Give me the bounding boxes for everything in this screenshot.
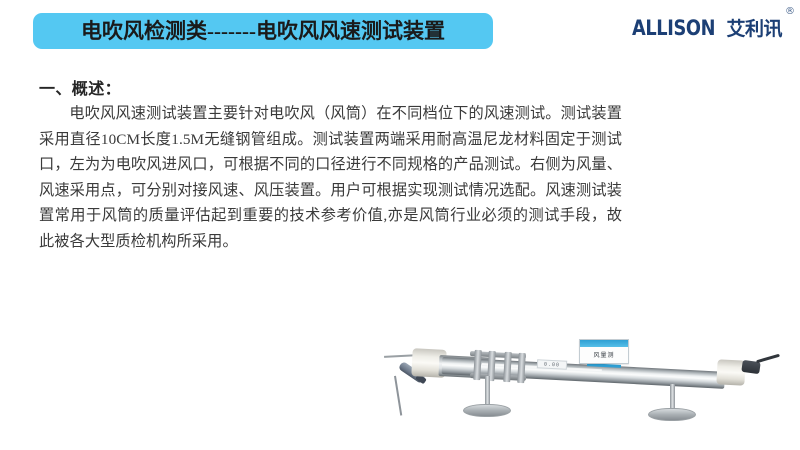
photo-stage: 0.00 风量测 xyxy=(382,326,782,448)
probe-needle xyxy=(394,376,402,416)
logo-latin-text: ALLISON xyxy=(632,16,715,40)
meter-card-label: 风量测 xyxy=(580,347,628,364)
product-photo: 0.00 风量测 xyxy=(382,326,782,448)
logo-chinese-text: 艾利讯 xyxy=(726,14,782,41)
slide: 电吹风检测类-------电吹风风速测试装置 ALLISON 艾利讯 ® 一、概… xyxy=(0,0,800,450)
stand-base xyxy=(463,404,511,417)
section-heading-overview: 一、概述： xyxy=(39,75,121,99)
page-title: 电吹风检测类-------电吹风风速测试装置 xyxy=(81,21,445,42)
slide-header: 电吹风检测类-------电吹风风速测试装置 ALLISON 艾利讯 ® xyxy=(0,0,800,62)
logo-inner: ALLISON 艾利讯 ® xyxy=(632,14,782,41)
company-logo: ALLISON 艾利讯 ® xyxy=(632,14,782,48)
power-cable-lead xyxy=(756,354,780,363)
page-title-banner: 电吹风检测类-------电吹风风速测试装置 xyxy=(33,13,493,49)
overview-paragraph: 电吹风风速测试装置主要针对电吹风（风筒）在不同档位下的风速测试。测试装置采用直径… xyxy=(39,101,622,255)
meter-label-card: 风量测 xyxy=(579,339,629,364)
stand-base xyxy=(648,408,696,421)
meter-card-strip xyxy=(580,340,628,347)
nylon-end-cap-right xyxy=(716,359,745,385)
digital-readout: 0.00 xyxy=(537,359,567,370)
registered-trademark-icon: ® xyxy=(785,6,795,17)
